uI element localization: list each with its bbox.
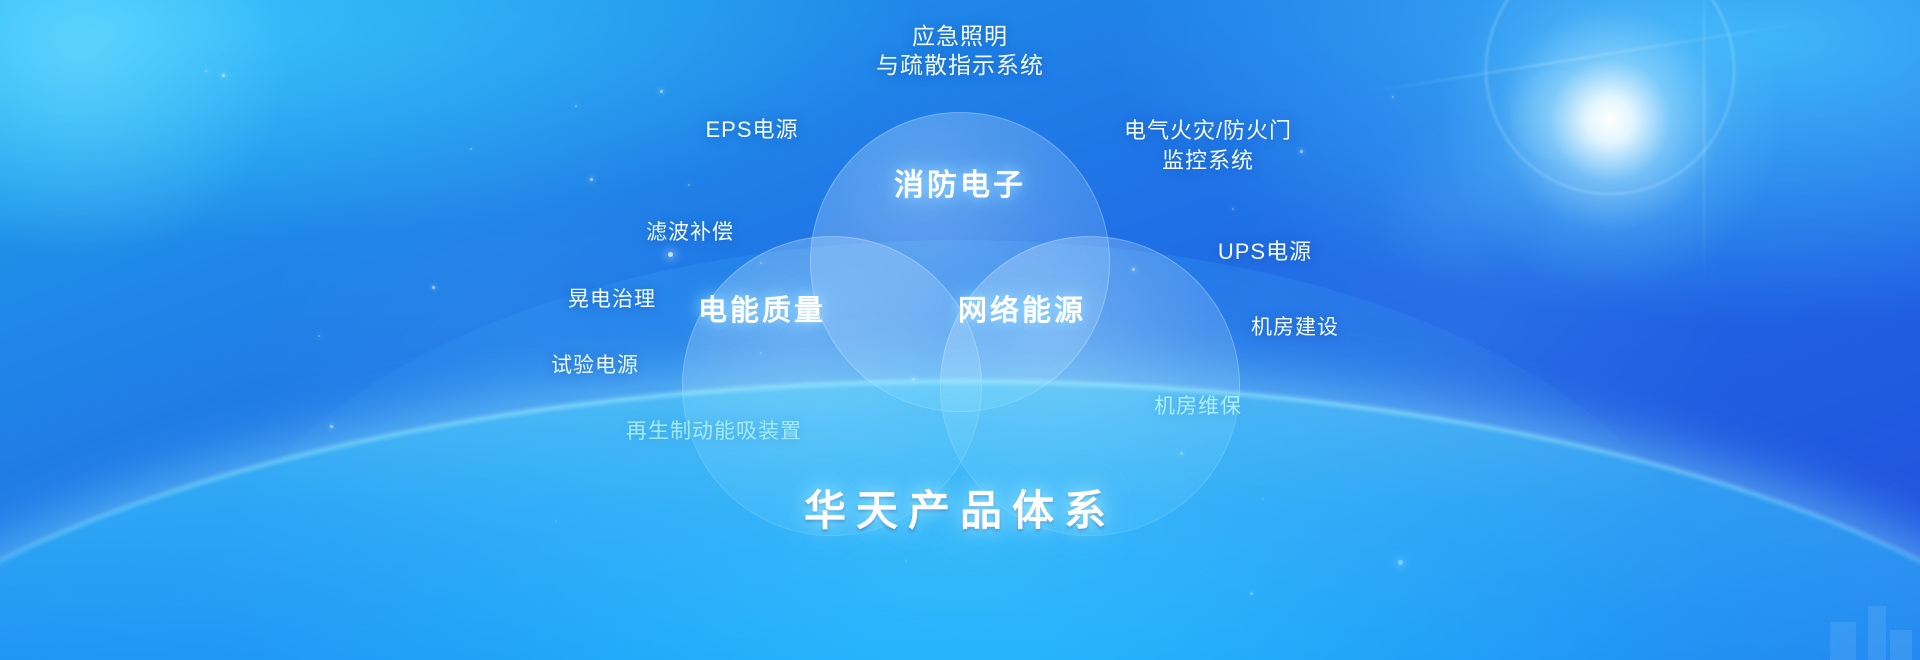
product-label-emergency-lighting[interactable]: 应急照明 与疏散指示系统: [876, 22, 1044, 80]
page-title: 华天产品体系: [804, 477, 1116, 538]
product-label-voltage-sag[interactable]: 晃电治理: [568, 283, 656, 313]
product-label-line2: 监控系统: [1124, 146, 1292, 176]
product-label-line1: EPS电源: [705, 116, 798, 144]
skyline-building: [1890, 630, 1912, 660]
venn-label-network-energy: 网络能源: [958, 287, 1086, 329]
product-label-computer-room-build[interactable]: 机房建设: [1251, 311, 1339, 341]
product-system-banner: 消防电子 电能质量 网络能源 应急照明 与疏散指示系统 EPS电源 电气火灾/防…: [0, 0, 1920, 660]
product-label-eps-power[interactable]: EPS电源: [705, 116, 798, 144]
product-label-ups-power[interactable]: UPS电源: [1218, 234, 1312, 266]
particle-dot: [222, 74, 225, 77]
particle-dot: [1392, 96, 1394, 98]
product-label-filter-compensation[interactable]: 滤波补偿: [646, 216, 734, 246]
particle-dot: [470, 148, 472, 150]
ambient-glow-top-left: [0, 0, 300, 270]
product-label-line1: 试验电源: [551, 349, 639, 379]
particle-dot: [590, 178, 593, 181]
particle-dot: [318, 335, 320, 337]
product-label-line1: 电气火灾/防火门: [1124, 116, 1292, 146]
product-label-line1: 应急照明: [876, 22, 1044, 51]
product-label-electrical-fire[interactable]: 电气火灾/防火门 监控系统: [1124, 116, 1292, 176]
particle-dot: [1300, 150, 1303, 153]
product-label-line1: 滤波补偿: [646, 216, 734, 246]
venn-label-fire-electronics: 消防电子: [894, 160, 1026, 204]
product-label-line1: UPS电源: [1218, 234, 1312, 266]
skyline-building: [1830, 622, 1856, 660]
product-label-line1: 晃电治理: [568, 283, 656, 313]
skyline-building: [1868, 606, 1886, 660]
product-label-line2: 与疏散指示系统: [876, 51, 1044, 80]
product-label-test-power-supply[interactable]: 试验电源: [551, 349, 639, 379]
particle-dot: [660, 90, 663, 93]
product-label-line1: 机房建设: [1251, 311, 1339, 341]
particle-dot: [330, 425, 333, 428]
particle-dot: [575, 105, 577, 107]
particle-dot: [432, 286, 435, 289]
particle-dot: [205, 70, 207, 72]
venn-label-power-quality: 电能质量: [698, 287, 826, 329]
